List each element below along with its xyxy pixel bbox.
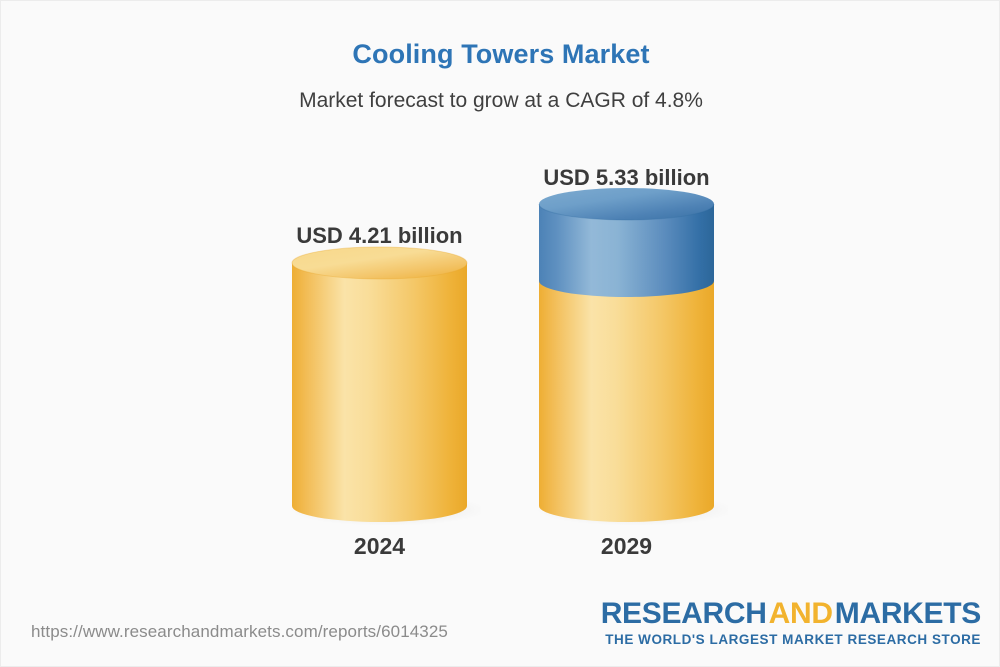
cylinder-body-2024 [292, 263, 467, 522]
cylinder-body-gold-2029 [539, 281, 714, 522]
cylinder-2024 [278, 161, 481, 531]
logo-word-markets: MARKETS [835, 597, 981, 630]
x-axis-label-2029: 2029 [539, 533, 714, 560]
logo-wordmark: RESEARCHANDMARKETS [601, 598, 981, 630]
logo-word-research: RESEARCH [601, 597, 767, 630]
plot-area: USD 4.21 billion [1, 1, 1000, 601]
cylinder-2029 [525, 161, 728, 531]
logo-tagline: THE WORLD'S LARGEST MARKET RESEARCH STOR… [601, 632, 981, 647]
x-axis-label-2024: 2024 [292, 533, 467, 560]
source-url[interactable]: https://www.researchandmarkets.com/repor… [31, 622, 448, 642]
logo-word-and: AND [769, 597, 833, 630]
researchandmarkets-logo[interactable]: RESEARCHANDMARKETS THE WORLD'S LARGEST M… [601, 598, 981, 647]
chart-figure: Cooling Towers Market Market forecast to… [0, 0, 1000, 667]
